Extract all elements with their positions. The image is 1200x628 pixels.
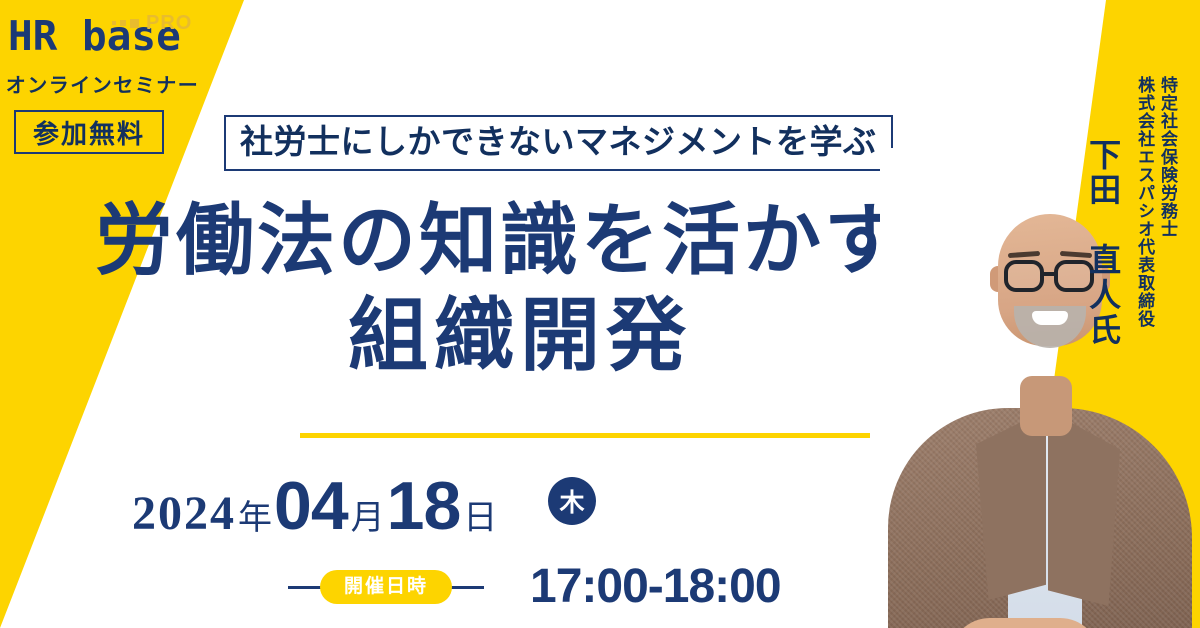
- square-decoration-icon: [120, 20, 126, 26]
- date-month-unit: 月: [351, 490, 385, 539]
- pro-label: PRO: [146, 13, 192, 33]
- speaker-name: 下田 直人氏: [1084, 138, 1122, 348]
- headline-line-2: 組織開発: [0, 291, 1000, 381]
- glasses-icon: [1004, 260, 1044, 292]
- speaker-title-line-2: 特定社会保険労務士: [1155, 76, 1178, 344]
- square-decoration-icon: [112, 21, 116, 25]
- lead-copy-box: 社労士にしかできないマネジメントを学ぶ: [224, 115, 893, 171]
- schedule-section-label: 開催日時: [320, 570, 452, 604]
- date-year: 2024: [132, 486, 236, 541]
- date-month: 04: [274, 467, 348, 545]
- brand-logo-block: PRO HR base オンラインセミナー 参加無料: [0, 0, 250, 154]
- event-date: 2024 年 04 月 18 日: [132, 467, 497, 545]
- square-decoration-icon: [130, 19, 139, 28]
- lead-copy-text: 社労士にしかできないマネジメントを学ぶ: [240, 123, 877, 160]
- seminar-banner: PRO HR base オンラインセミナー 参加無料 社労士にしかできないマネジ…: [0, 0, 1200, 628]
- divider-rule: [300, 433, 870, 438]
- headline-line-1: 労働法の知識を活かす: [0, 196, 1000, 285]
- free-admission-badge: 参加無料: [14, 110, 164, 154]
- speaker-title: 特定社会保険労務士 株式会社エスパシオ代表取締役: [1132, 76, 1178, 344]
- headline: 労働法の知識を活かす 組織開発: [0, 196, 1000, 381]
- event-time-row: 開催日時 17:00-18:00: [288, 563, 781, 611]
- event-time: 17:00-18:00: [530, 563, 781, 611]
- date-year-unit: 年: [238, 490, 272, 539]
- weekday-label: 木: [559, 483, 584, 519]
- date-day: 18: [387, 467, 461, 545]
- speaker-info: 下田 直人氏 特定社会保険労務士 株式会社エスパシオ代表取締役: [1084, 76, 1178, 348]
- brand-subtitle: オンラインセミナー: [0, 69, 205, 98]
- logo-row: PRO HR base: [8, 14, 213, 59]
- free-admission-label: 参加無料: [33, 114, 145, 151]
- portrait-mouth: [1032, 311, 1068, 325]
- portrait-neck: [1020, 376, 1072, 436]
- pro-tag: PRO: [112, 13, 192, 33]
- date-day-unit: 日: [463, 490, 497, 539]
- circle-weekday-icon: 木: [548, 477, 596, 525]
- glasses-bridge-icon: [1043, 272, 1057, 276]
- speaker-title-line-1: 株式会社エスパシオ代表取締役: [1132, 76, 1155, 344]
